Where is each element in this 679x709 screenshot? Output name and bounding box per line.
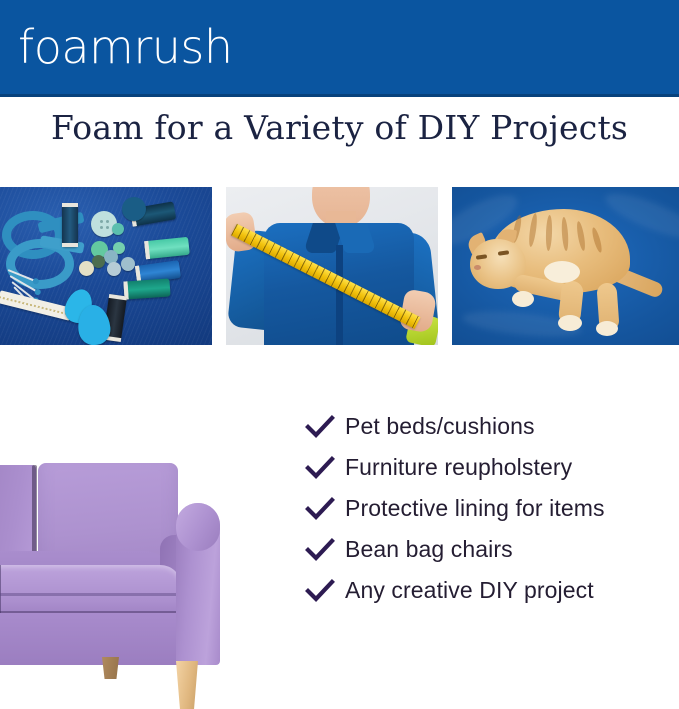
button-pale-blue: [107, 262, 121, 276]
button-mint-small: [112, 223, 124, 235]
button-steel: [121, 257, 135, 271]
list-item-label: Bean bag chairs: [345, 538, 513, 561]
uses-list: Pet beds/cushions Furniture reupholstery…: [305, 406, 679, 611]
list-item: Any creative DIY project: [305, 570, 679, 611]
brand-header: foamrush: [0, 0, 679, 97]
list-item: Bean bag chairs: [305, 529, 679, 570]
thread-spool-navy: [62, 203, 78, 247]
sofa-base: [0, 613, 188, 665]
thread-spool-teal: [123, 278, 170, 299]
check-icon: [305, 456, 345, 480]
product-infographic: foamrush Foam for a Variety of DIY Proje…: [0, 0, 679, 679]
sofa-seat-cushion: [0, 565, 182, 617]
foamrush-logo: foamrush: [18, 24, 233, 70]
list-item-label: Any creative DIY project: [345, 579, 594, 602]
lavender-sofa-illustration: [0, 443, 265, 679]
cat-rear-paw: [596, 321, 618, 336]
list-item-label: Furniture reupholstery: [345, 456, 572, 479]
button-navy-large: [122, 197, 146, 221]
page-title: Foam for a Variety of DIY Projects: [0, 108, 679, 148]
check-icon: [305, 579, 345, 603]
button-olive: [92, 255, 105, 268]
tape-measure-photo: [226, 187, 438, 345]
check-icon: [305, 415, 345, 439]
list-item-label: Protective lining for items: [345, 497, 605, 520]
photo-strip: [0, 187, 679, 345]
cat-hind-paw: [558, 315, 582, 331]
list-item: Protective lining for items: [305, 488, 679, 529]
cat-nose: [474, 265, 481, 270]
sofa-arm-roll-top: [176, 503, 220, 551]
sofa-seat-seam: [0, 593, 182, 596]
check-icon: [305, 538, 345, 562]
sofa-leg-front: [176, 661, 198, 709]
sofa-seat-split: [0, 565, 1, 615]
list-item-label: Pet beds/cushions: [345, 415, 535, 438]
list-item: Furniture reupholstery: [305, 447, 679, 488]
cat-on-cushion-photo: [452, 187, 679, 345]
check-icon: [305, 497, 345, 521]
button-cream: [79, 261, 94, 276]
cat-belly-patch: [544, 261, 580, 283]
sofa-leg-back: [102, 657, 119, 679]
cat-front-paw: [512, 291, 534, 307]
shirt-placket: [336, 245, 343, 345]
sewing-supplies-photo: [0, 187, 212, 345]
list-item: Pet beds/cushions: [305, 406, 679, 447]
